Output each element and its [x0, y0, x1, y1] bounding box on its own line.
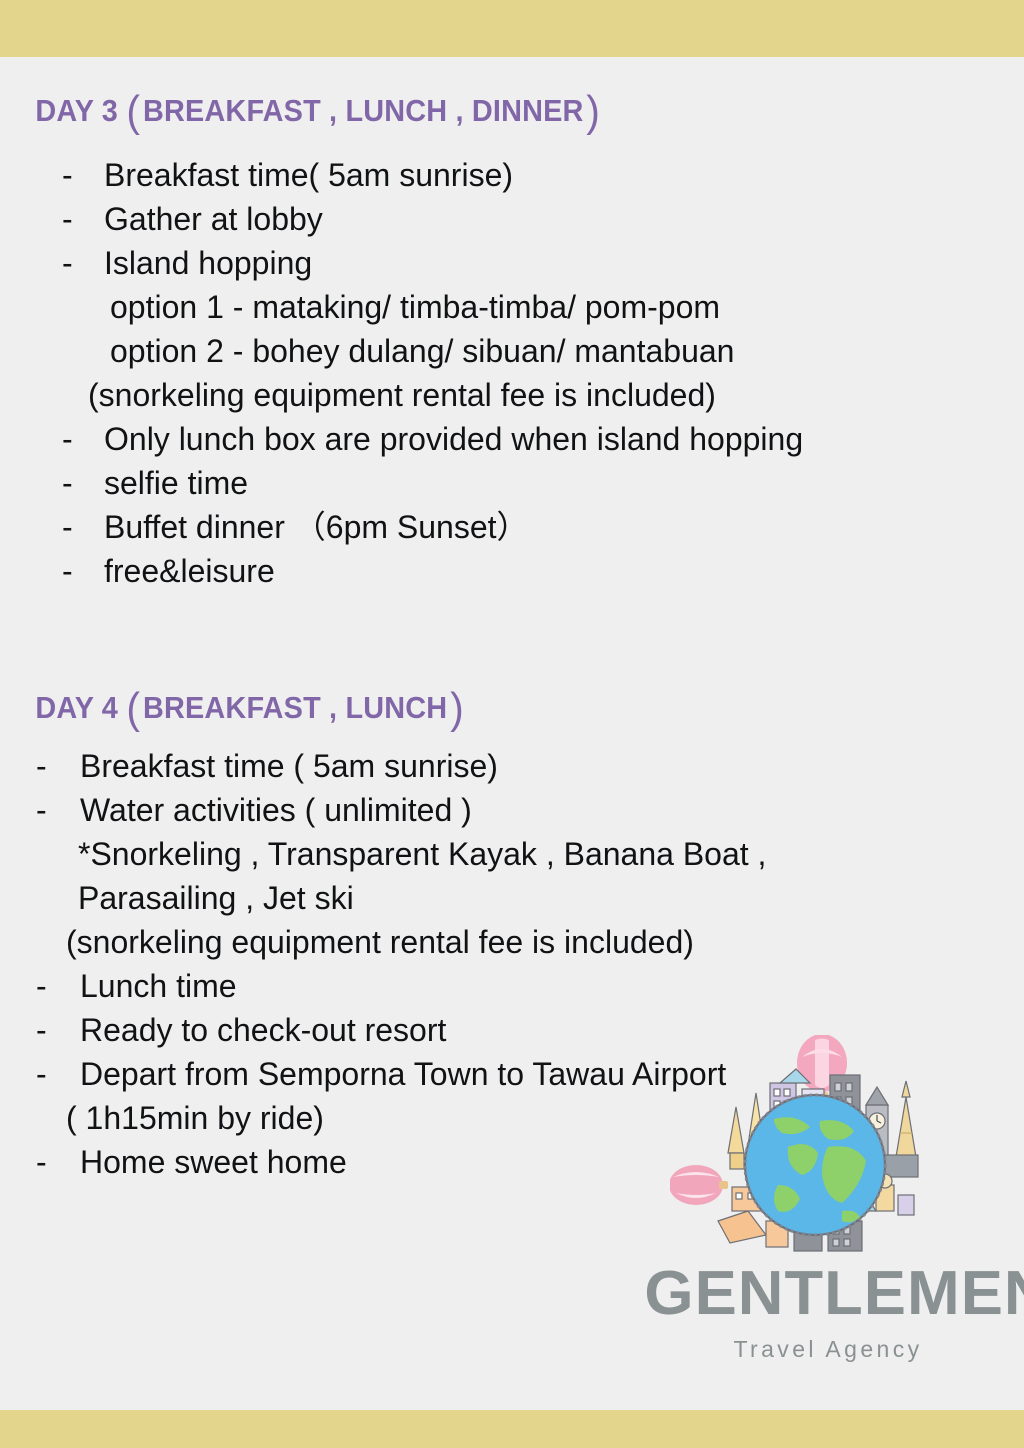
- section-day-4: DAY 4(BREAKFAST , LUNCH) - Breakfast tim…: [0, 692, 1024, 723]
- balloon-left-icon: [670, 1165, 728, 1205]
- list-item-text: ( 1h15min by ride): [66, 1096, 324, 1140]
- list-item-sub: *Snorkeling , Transparent Kayak , Banana…: [0, 832, 1024, 876]
- list-item-text: Gather at lobby: [104, 197, 323, 241]
- section-day-3: DAY 3(BREAKFAST , LUNCH , DINNER) - Brea…: [0, 95, 1024, 126]
- day-3-label: DAY 3: [35, 93, 118, 128]
- day-3-heading: DAY 3(BREAKFAST , LUNCH , DINNER): [0, 95, 952, 126]
- list-item-text: selfie time: [104, 461, 248, 505]
- list-item: - Island hopping: [0, 241, 1024, 285]
- list-item-text: Depart from Semporna Town to Tawau Airpo…: [80, 1052, 726, 1096]
- list-item-note: (snorkeling equipment rental fee is incl…: [0, 373, 1024, 417]
- bullet-dash: -: [36, 964, 58, 1008]
- list-item: - Lunch time: [0, 964, 1024, 1008]
- list-item-text: Island hopping: [104, 241, 312, 285]
- bullet-dash: -: [36, 788, 58, 832]
- list-item-text: Lunch time: [80, 964, 237, 1008]
- list-item-text: option 1 - mataking/ timba-timba/ pom-po…: [110, 285, 720, 329]
- bullet-dash: -: [62, 241, 84, 285]
- list-item: - Only lunch box are provided when islan…: [0, 417, 1024, 461]
- agency-logo: GENTLEMEN Travel Agency: [648, 1035, 1008, 1385]
- bullet-dash: -: [62, 197, 84, 241]
- brand-name: GENTLEMEN: [644, 1263, 1011, 1325]
- bullet-dash: -: [36, 1008, 58, 1052]
- day-4-label: DAY 4: [35, 690, 118, 725]
- list-item: - free&leisure: [0, 549, 1024, 593]
- list-item: - Water activities ( unlimited ): [0, 788, 1024, 832]
- list-item-sub: option 2 - bohey dulang/ sibuan/ mantabu…: [0, 329, 1024, 373]
- list-item-text: Water activities ( unlimited ): [80, 788, 472, 832]
- list-item-text: Home sweet home: [80, 1140, 347, 1184]
- list-item-note: (snorkeling equipment rental fee is incl…: [0, 920, 1024, 964]
- bullet-dash: -: [62, 461, 84, 505]
- list-item-sub: Parasailing , Jet ski: [0, 876, 1024, 920]
- document-page: DAY 3(BREAKFAST , LUNCH , DINNER) - Brea…: [0, 0, 1024, 1448]
- list-item: - Gather at lobby: [0, 197, 1024, 241]
- list-item-text: *Snorkeling , Transparent Kayak , Banana…: [78, 832, 766, 876]
- day-4-open-paren: (: [124, 684, 143, 733]
- itinerary-content: DAY 3(BREAKFAST , LUNCH , DINNER) - Brea…: [0, 57, 1024, 1410]
- day-3-close-paren: ): [584, 87, 603, 136]
- globe-travel-illustration: [670, 1035, 960, 1265]
- list-item-text: Buffet dinner （6pm Sunset）: [104, 505, 529, 549]
- bottom-gold-band: [0, 1410, 1024, 1448]
- day-4-close-paren: ): [447, 684, 466, 733]
- day-3-items: - Breakfast time( 5am sunrise) - Gather …: [0, 153, 1024, 593]
- list-item-text: option 2 - bohey dulang/ sibuan/ mantabu…: [110, 329, 734, 373]
- list-item-text: Breakfast time( 5am sunrise): [104, 153, 513, 197]
- top-gold-band: [0, 0, 1024, 57]
- list-item: - Buffet dinner （6pm Sunset）: [0, 505, 1024, 549]
- globe-icon: [745, 1095, 885, 1235]
- day-4-meals: BREAKFAST , LUNCH: [143, 690, 447, 725]
- list-item-sub: option 1 - mataking/ timba-timba/ pom-po…: [0, 285, 1024, 329]
- bullet-dash: -: [62, 505, 84, 549]
- brand-tagline: Travel Agency: [648, 1338, 1008, 1361]
- bullet-dash: -: [62, 153, 84, 197]
- list-item-text: Only lunch box are provided when island …: [104, 417, 803, 461]
- list-item-text: Breakfast time ( 5am sunrise): [80, 744, 498, 788]
- list-item: - Breakfast time ( 5am sunrise): [0, 744, 1024, 788]
- brand-lockup: GENTLEMEN Travel Agency: [648, 1263, 1008, 1361]
- list-item-text: free&leisure: [104, 549, 275, 593]
- list-item-text: Parasailing , Jet ski: [78, 876, 354, 920]
- list-item: - Breakfast time( 5am sunrise): [0, 153, 1024, 197]
- day-3-meals: BREAKFAST , LUNCH , DINNER: [143, 93, 584, 128]
- bullet-dash: -: [36, 1140, 58, 1184]
- day-3-open-paren: (: [124, 87, 143, 136]
- day-4-heading: DAY 4(BREAKFAST , LUNCH): [0, 692, 952, 723]
- bullet-dash: -: [36, 1052, 58, 1096]
- list-item-text: Ready to check-out resort: [80, 1008, 446, 1052]
- bullet-dash: -: [62, 549, 84, 593]
- bullet-dash: -: [62, 417, 84, 461]
- list-item-text: (snorkeling equipment rental fee is incl…: [88, 373, 716, 417]
- list-item-text: (snorkeling equipment rental fee is incl…: [66, 920, 694, 964]
- list-item: - selfie time: [0, 461, 1024, 505]
- bullet-dash: -: [36, 744, 58, 788]
